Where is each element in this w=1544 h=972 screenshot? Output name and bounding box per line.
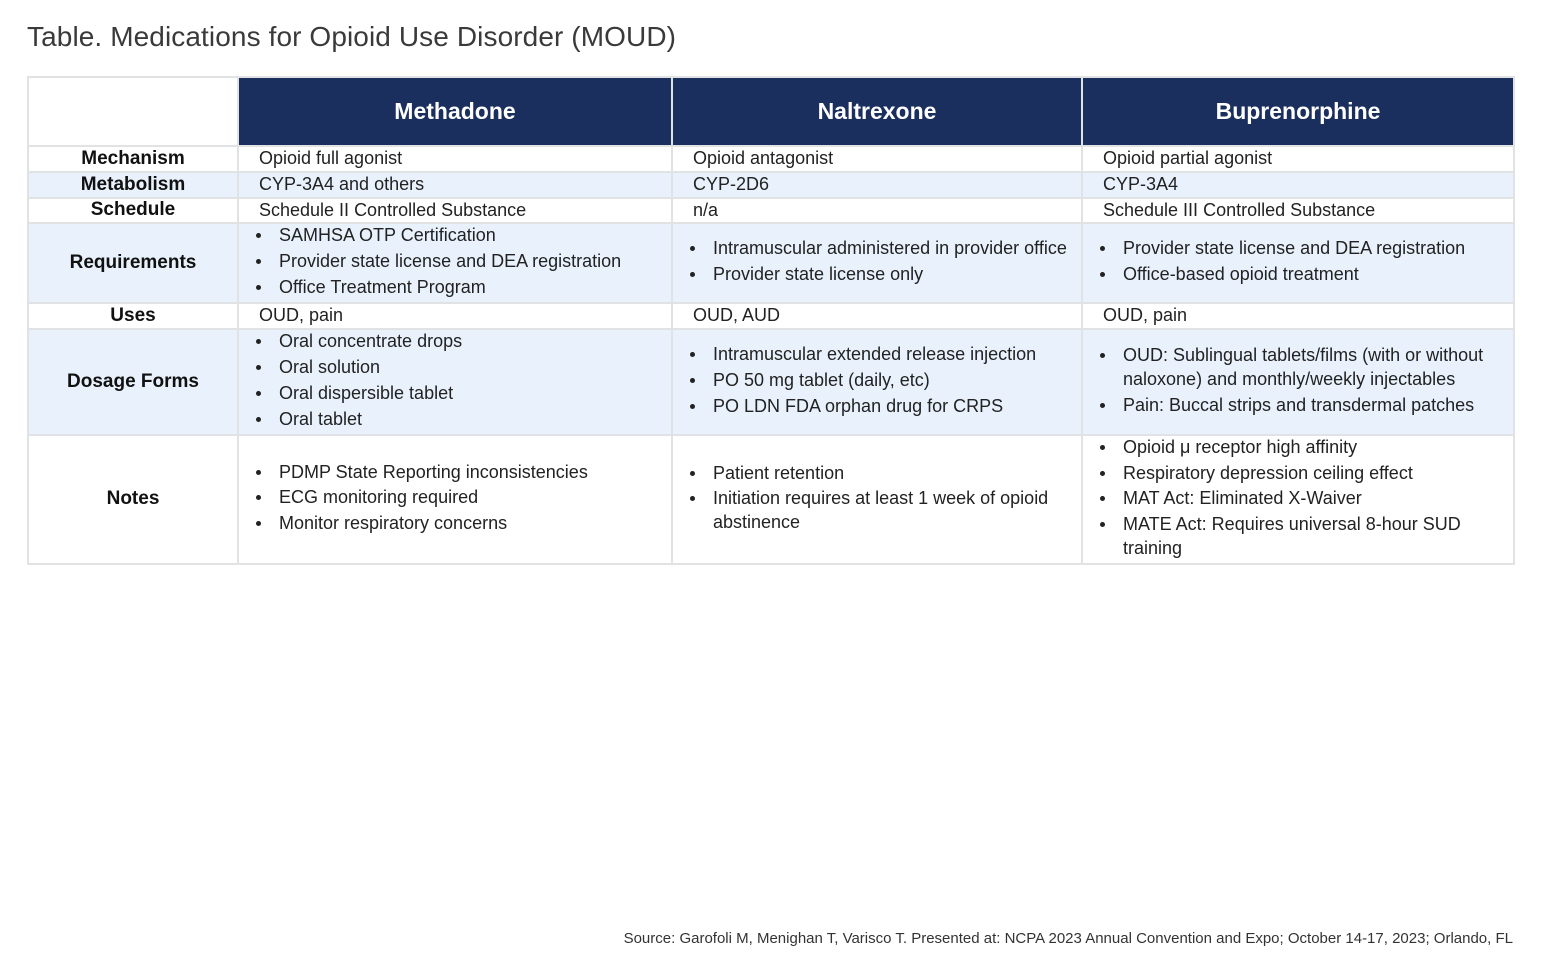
bullet-list: Oral concentrate dropsOral solutionOral … bbox=[239, 330, 671, 432]
bullet-list: Intramuscular administered in provider o… bbox=[673, 237, 1081, 287]
source-citation: Source: Garofoli M, Menighan T, Varisco … bbox=[624, 930, 1513, 947]
bullet-item: Respiratory depression ceiling effect bbox=[1117, 462, 1513, 486]
cell-uses-methadone: OUD, pain bbox=[238, 303, 672, 329]
row-label-requirements: Requirements bbox=[28, 223, 238, 303]
table-row: NotesPDMP State Reporting inconsistencie… bbox=[28, 435, 1514, 565]
bullet-list: OUD: Sublingual tablets/films (with or w… bbox=[1083, 344, 1513, 418]
table-header-row: Methadone Naltrexone Buprenorphine bbox=[28, 77, 1514, 146]
bullet-item: OUD: Sublingual tablets/films (with or w… bbox=[1117, 344, 1513, 392]
table-row: MechanismOpioid full agonistOpioid antag… bbox=[28, 146, 1514, 172]
column-header-methadone: Methadone bbox=[238, 77, 672, 146]
bullet-list: SAMHSA OTP CertificationProvider state l… bbox=[239, 224, 671, 300]
row-label-metabolism: Metabolism bbox=[28, 172, 238, 198]
cell-metabolism-naltrexone: CYP-2D6 bbox=[672, 172, 1082, 198]
cell-schedule-naltrexone: n/a bbox=[672, 198, 1082, 224]
bullet-item: Oral tablet bbox=[273, 408, 671, 432]
bullet-list: Provider state license and DEA registrat… bbox=[1083, 237, 1513, 287]
table-row: MetabolismCYP-3A4 and othersCYP-2D6CYP-3… bbox=[28, 172, 1514, 198]
table-row: UsesOUD, painOUD, AUDOUD, pain bbox=[28, 303, 1514, 329]
bullet-item: Patient retention bbox=[707, 462, 1081, 486]
table-row: ScheduleSchedule II Controlled Substance… bbox=[28, 198, 1514, 224]
bullet-item: ECG monitoring required bbox=[273, 486, 671, 510]
cell-notes-buprenorphine: Opioid μ receptor high affinityRespirato… bbox=[1082, 435, 1514, 565]
header-corner-cell bbox=[28, 77, 238, 146]
bullet-item: MAT Act: Eliminated X-Waiver bbox=[1117, 487, 1513, 511]
bullet-item: SAMHSA OTP Certification bbox=[273, 224, 671, 248]
moud-table: Methadone Naltrexone Buprenorphine Mecha… bbox=[27, 76, 1515, 565]
cell-requirements-naltrexone: Intramuscular administered in provider o… bbox=[672, 223, 1082, 303]
column-header-naltrexone: Naltrexone bbox=[672, 77, 1082, 146]
table-body: MechanismOpioid full agonistOpioid antag… bbox=[28, 146, 1514, 564]
table-row: RequirementsSAMHSA OTP CertificationProv… bbox=[28, 223, 1514, 303]
bullet-item: Provider state license and DEA registrat… bbox=[273, 250, 671, 274]
cell-notes-methadone: PDMP State Reporting inconsistenciesECG … bbox=[238, 435, 672, 565]
bullet-list: Intramuscular extended release injection… bbox=[673, 343, 1081, 419]
bullet-item: Provider state license only bbox=[707, 263, 1081, 287]
bullet-item: Intramuscular extended release injection bbox=[707, 343, 1081, 367]
cell-metabolism-buprenorphine: CYP-3A4 bbox=[1082, 172, 1514, 198]
cell-mechanism-buprenorphine: Opioid partial agonist bbox=[1082, 146, 1514, 172]
table-row: Dosage FormsOral concentrate dropsOral s… bbox=[28, 329, 1514, 435]
cell-dosage-forms-naltrexone: Intramuscular extended release injection… bbox=[672, 329, 1082, 435]
bullet-item: Oral dispersible tablet bbox=[273, 382, 671, 406]
bullet-list: Opioid μ receptor high affinityRespirato… bbox=[1083, 436, 1513, 562]
cell-dosage-forms-buprenorphine: OUD: Sublingual tablets/films (with or w… bbox=[1082, 329, 1514, 435]
row-label-mechanism: Mechanism bbox=[28, 146, 238, 172]
row-label-uses: Uses bbox=[28, 303, 238, 329]
bullet-item: Provider state license and DEA registrat… bbox=[1117, 237, 1513, 261]
bullet-item: PO 50 mg tablet (daily, etc) bbox=[707, 369, 1081, 393]
cell-dosage-forms-methadone: Oral concentrate dropsOral solutionOral … bbox=[238, 329, 672, 435]
bullet-item: PO LDN FDA orphan drug for CRPS bbox=[707, 395, 1081, 419]
page-root: Table. Medications for Opioid Use Disord… bbox=[0, 0, 1544, 972]
bullet-list: Patient retentionInitiation requires at … bbox=[673, 462, 1081, 536]
bullet-item: Initiation requires at least 1 week of o… bbox=[707, 487, 1081, 535]
bullet-item: Oral concentrate drops bbox=[273, 330, 671, 354]
bullet-list: PDMP State Reporting inconsistenciesECG … bbox=[239, 461, 671, 537]
bullet-item: Office-based opioid treatment bbox=[1117, 263, 1513, 287]
cell-uses-buprenorphine: OUD, pain bbox=[1082, 303, 1514, 329]
bullet-item: Pain: Buccal strips and transdermal patc… bbox=[1117, 394, 1513, 418]
bullet-item: Intramuscular administered in provider o… bbox=[707, 237, 1081, 261]
row-label-notes: Notes bbox=[28, 435, 238, 565]
cell-schedule-buprenorphine: Schedule III Controlled Substance bbox=[1082, 198, 1514, 224]
bullet-item: Monitor respiratory concerns bbox=[273, 512, 671, 536]
bullet-item: MATE Act: Requires universal 8-hour SUD … bbox=[1117, 513, 1513, 561]
row-label-schedule: Schedule bbox=[28, 198, 238, 224]
cell-requirements-methadone: SAMHSA OTP CertificationProvider state l… bbox=[238, 223, 672, 303]
cell-metabolism-methadone: CYP-3A4 and others bbox=[238, 172, 672, 198]
cell-schedule-methadone: Schedule II Controlled Substance bbox=[238, 198, 672, 224]
cell-mechanism-methadone: Opioid full agonist bbox=[238, 146, 672, 172]
page-title: Table. Medications for Opioid Use Disord… bbox=[27, 21, 676, 53]
bullet-item: Opioid μ receptor high affinity bbox=[1117, 436, 1513, 460]
cell-uses-naltrexone: OUD, AUD bbox=[672, 303, 1082, 329]
cell-requirements-buprenorphine: Provider state license and DEA registrat… bbox=[1082, 223, 1514, 303]
bullet-item: Oral solution bbox=[273, 356, 671, 380]
bullet-item: Office Treatment Program bbox=[273, 276, 671, 300]
cell-mechanism-naltrexone: Opioid antagonist bbox=[672, 146, 1082, 172]
row-label-dosage-forms: Dosage Forms bbox=[28, 329, 238, 435]
bullet-item: PDMP State Reporting inconsistencies bbox=[273, 461, 671, 485]
column-header-buprenorphine: Buprenorphine bbox=[1082, 77, 1514, 146]
cell-notes-naltrexone: Patient retentionInitiation requires at … bbox=[672, 435, 1082, 565]
